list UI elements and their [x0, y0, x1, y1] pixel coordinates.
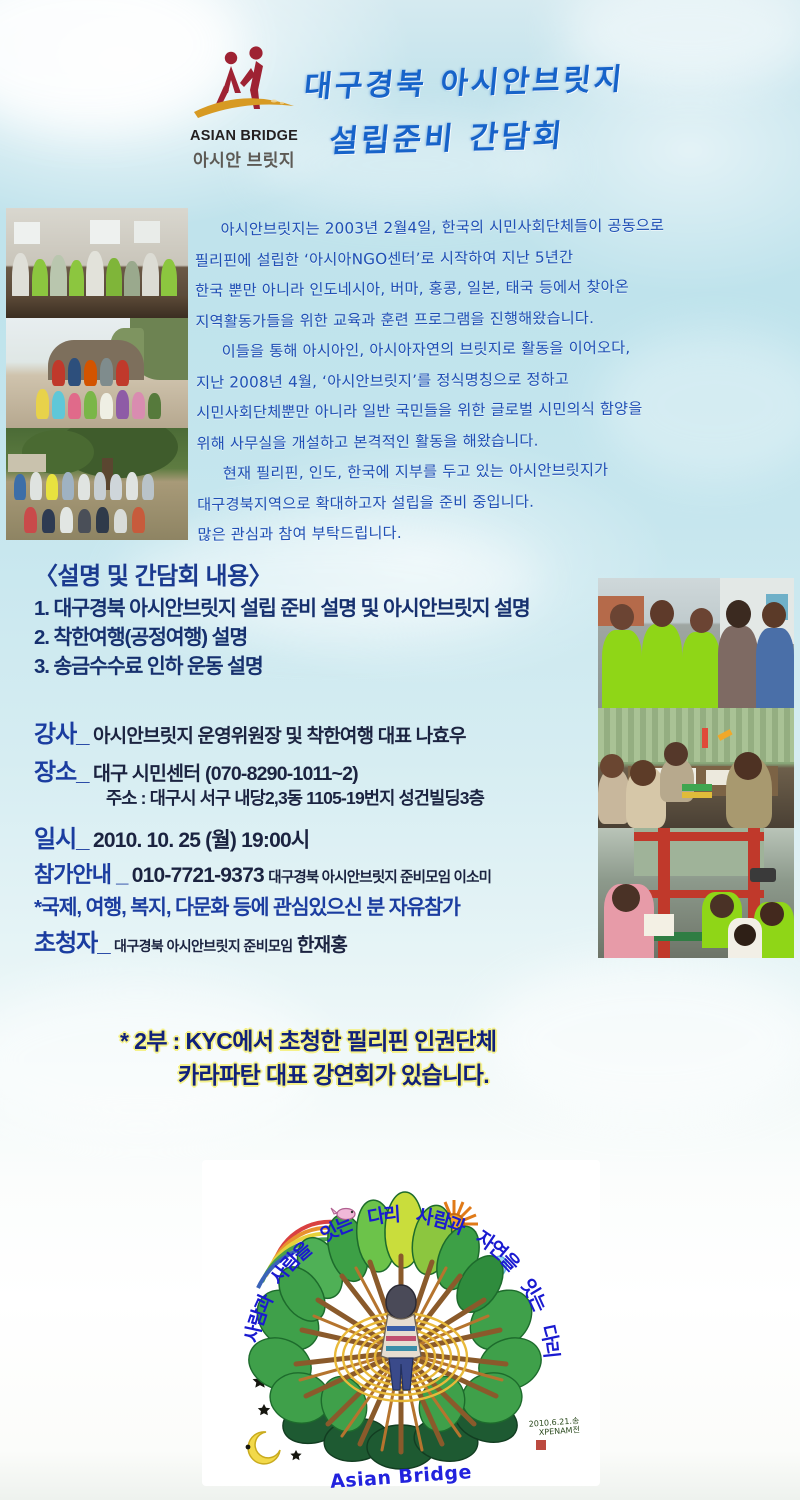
address-value: 주소 : 대구시 서구 내당2,3동 1105-19번지 성건빌딩3층	[106, 788, 484, 808]
place-value: 대구 시민센터 (070-8290-1011~2)	[93, 763, 358, 785]
speaker-label: 강사_	[34, 721, 89, 748]
host-name: 한재홍	[297, 935, 347, 956]
intro-line: 많은 관심과 참여 부탁드립니다.	[197, 514, 797, 550]
arc-text-char: 리	[538, 1338, 567, 1361]
bottom-illustration: 2010.6.21.송 XPENAM전 사람과사람을잇는다리사람과자연을잇는다리…	[196, 1152, 606, 1490]
detail-row-place: 장소_ 대구 시민센터 (070-8290-1011~2)	[34, 752, 604, 785]
part2-notice: * 2부 : KYC에서 초청한 필리핀 인권단체 카라파탄 대표 강연회가 있…	[120, 1024, 720, 1092]
poster-title-line2: 설립준비 간담회	[327, 110, 566, 161]
detail-row-speaker: 강사_ 아시안브릿지 운영위원장 및 착한여행 대표 나효우	[34, 714, 604, 752]
speaker-value: 아시안브릿지 운영위원장 및 착한여행 대표 나효우	[93, 726, 466, 747]
artist-signature: 2010.6.21.송 XPENAM전	[529, 1416, 581, 1437]
date-value: 2010. 10. 25 (월) 19:00시	[93, 829, 309, 852]
part2-line2: 카라파탄 대표 강연회가 있습니다.	[120, 1058, 720, 1092]
contact-label: 참가안내 _	[34, 862, 127, 887]
detail-row-address: 주소 : 대구시 서구 내당2,3동 1105-19번지 성건빌딩3층	[34, 785, 604, 819]
photo-children-smiling	[598, 578, 794, 708]
agenda-item-3: 3. 송금수수료 인하 운동 설명	[34, 652, 594, 681]
logo-name-ko: 아시안 브릿지	[188, 146, 300, 171]
contact-phone: 010-7721-9373	[132, 864, 264, 887]
intro-paragraph: 아시안브릿지는 2003년 2월4일, 한국의 시민사회단체들이 공동으로 필리…	[194, 209, 797, 550]
left-photo-column	[6, 208, 188, 540]
poster-header: ASIAN BRIDGE 아시안 브릿지 대구경북 아시안브릿지 설립준비 간담…	[0, 0, 800, 190]
event-details-section: 강사_ 아시안브릿지 운영위원장 및 착한여행 대표 나효우 장소_ 대구 시민…	[34, 714, 604, 957]
detail-row-contact: 참가안내 _ 010-7721-9373 대구경북 아시안브릿지 준비모임 이소…	[34, 857, 604, 890]
date-label: 일시_	[34, 826, 89, 853]
agenda-item-2: 2. 착한여행(공정여행) 설명	[34, 623, 594, 652]
poster-title-line1: 대구경북 아시안브릿지	[302, 54, 627, 106]
photo-workshop-indoor	[6, 208, 188, 318]
photo-children-classroom	[598, 708, 794, 828]
photo-group-tree	[6, 428, 188, 540]
host-label: 초청자_	[34, 930, 110, 957]
poster-canvas: ASIAN BRIDGE 아시안 브릿지 대구경북 아시안브릿지 설립준비 간담…	[0, 0, 800, 1500]
detail-row-open-note: *국제, 여행, 복지, 다문화 등에 관심있으신 분 자유참가	[34, 890, 604, 923]
photo-group-beach	[6, 318, 188, 428]
host-sub: 대구경북 아시안브릿지 준비모임	[114, 938, 293, 954]
place-label: 장소_	[34, 759, 89, 786]
agenda-item-1: 1. 대구경북 아시안브릿지 설립 준비 설명 및 아시안브릿지 설명	[34, 594, 594, 623]
asian-bridge-logo: ASIAN BRIDGE 아시안 브릿지	[188, 46, 300, 168]
agenda-section: 〈설명 및 간담회 내용〉 1. 대구경북 아시안브릿지 설립 준비 설명 및 …	[34, 556, 594, 681]
part2-line1: * 2부 : KYC에서 초청한 필리핀 인권단체	[120, 1028, 496, 1054]
contact-sub: 대구경북 아시안브릿지 준비모임 이소미	[268, 870, 491, 886]
arc-text-char: 리	[382, 1200, 403, 1228]
right-photo-column	[598, 578, 794, 958]
detail-row-date: 일시_ 2010. 10. 25 (월) 19:00시	[34, 819, 604, 857]
photo-children-reading	[598, 828, 794, 958]
bridge-people-icon	[188, 46, 300, 128]
detail-row-host: 초청자_ 대구경북 아시안브릿지 준비모임 한재홍	[34, 923, 604, 957]
open-participation-note: *국제, 여행, 복지, 다문화 등에 관심있으신 분 자유참가	[34, 896, 460, 919]
agenda-title: 〈설명 및 간담회 내용〉	[34, 556, 594, 591]
logo-name-en: ASIAN BRIDGE	[188, 128, 300, 144]
